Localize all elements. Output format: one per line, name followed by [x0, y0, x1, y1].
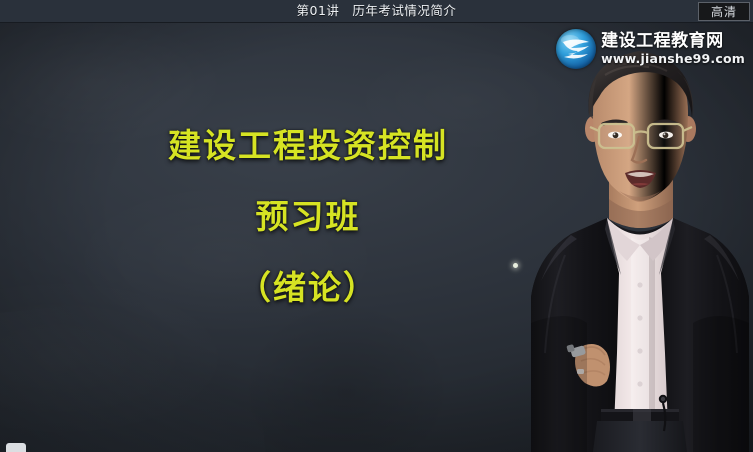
wall-light-streak: [0, 287, 270, 452]
presenter-figure: [527, 23, 753, 452]
hd-quality-button[interactable]: 高清: [698, 2, 750, 21]
slide-line-course-name: 建设工程投资控制: [58, 123, 558, 169]
site-watermark: 建设工程教育网 www.jianshe99.com: [552, 27, 749, 71]
watermark-text-block: 建设工程教育网 www.jianshe99.com: [601, 33, 745, 66]
video-player[interactable]: 第01讲 历年考试情况简介 高清 建设工程投资控制 预习班 （绪论）: [0, 0, 753, 452]
presenter-illustration: [527, 23, 753, 452]
watermark-site-name: 建设工程教育网: [601, 33, 745, 50]
player-title-bar: 第01讲 历年考试情况简介 高清: [0, 0, 753, 23]
jianshe99-logo-icon: [556, 29, 596, 69]
slide-title-block: 建设工程投资控制 预习班 （绪论）: [58, 123, 558, 311]
slide-line-class-type: 预习班: [58, 194, 558, 240]
wall-highlight-dot: [513, 263, 518, 268]
lecture-title: 第01讲 历年考试情况简介: [0, 0, 753, 22]
slide-line-section: （绪论）: [58, 265, 558, 311]
player-controls-handle[interactable]: [6, 443, 26, 452]
watermark-site-url: www.jianshe99.com: [601, 53, 745, 66]
video-stage[interactable]: 建设工程投资控制 预习班 （绪论）: [0, 23, 753, 452]
